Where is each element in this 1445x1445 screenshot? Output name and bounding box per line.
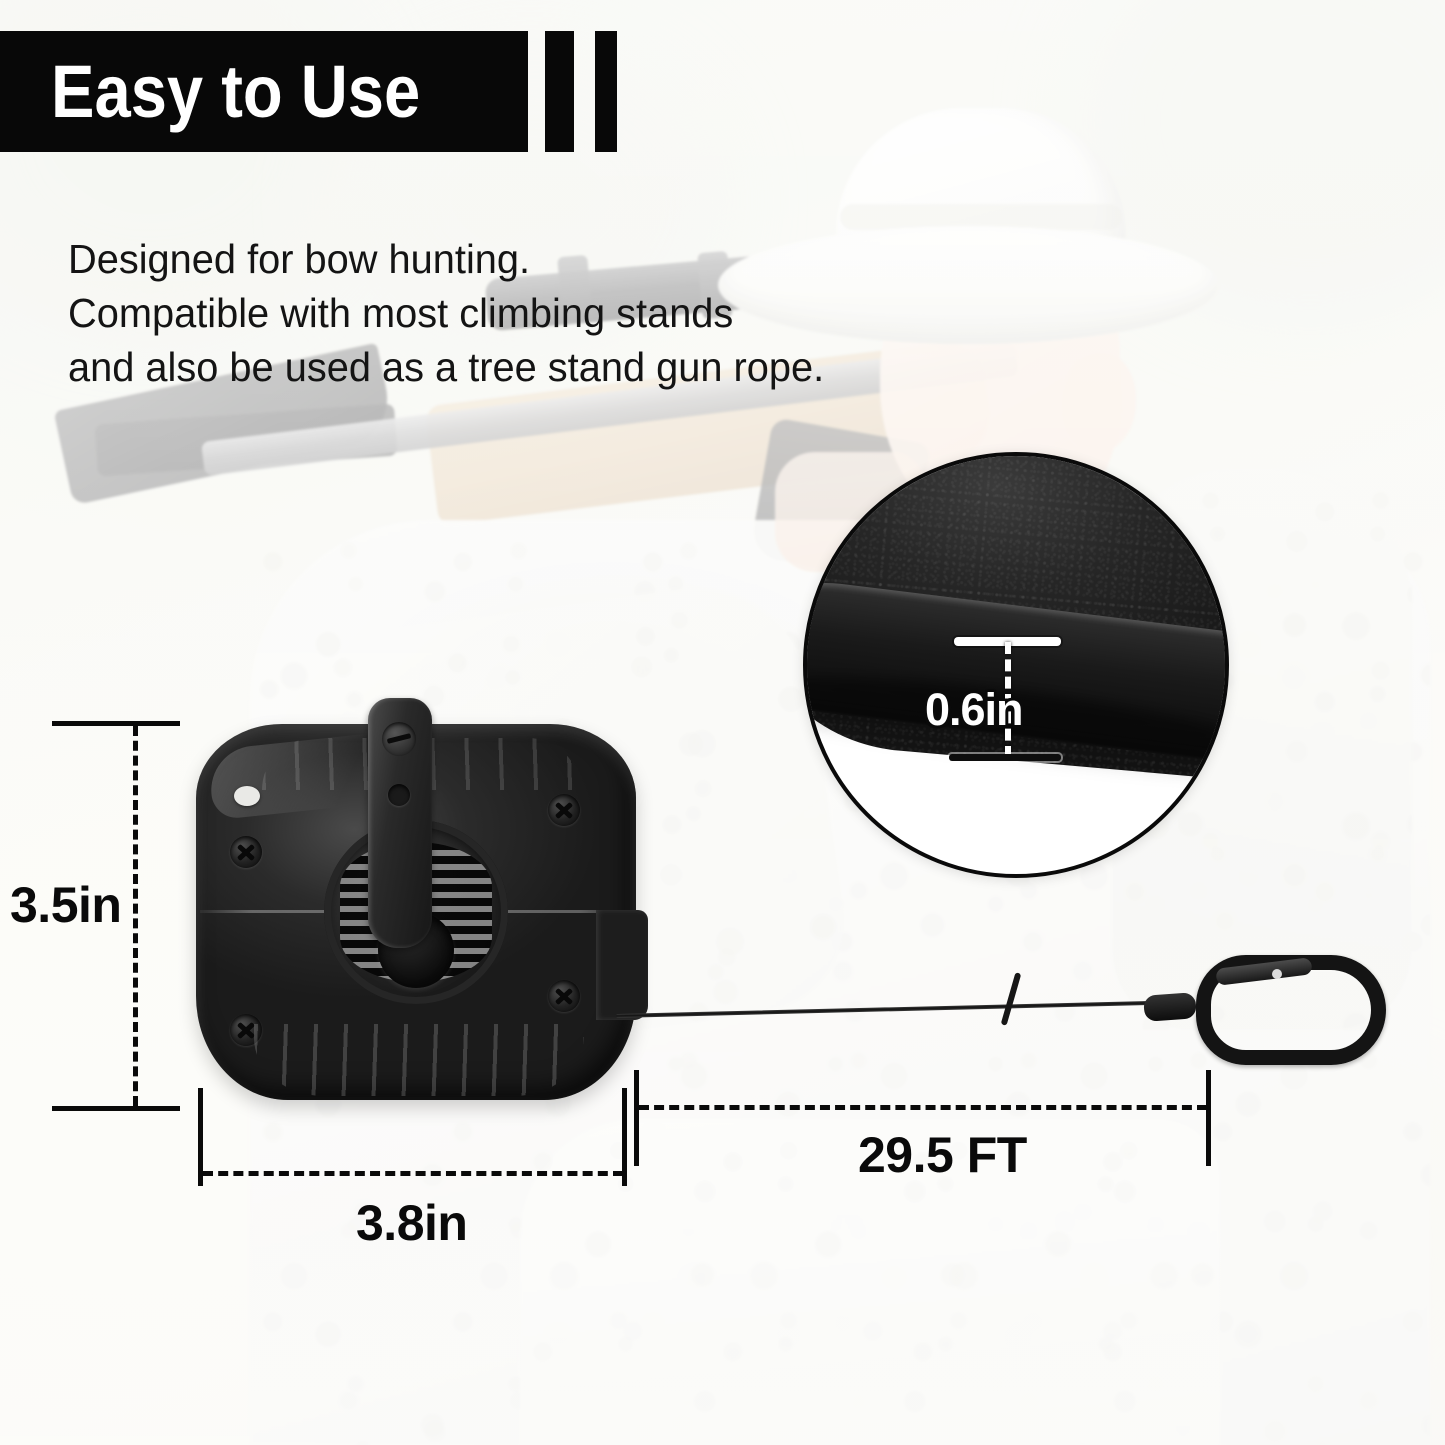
retractor-side-notch (596, 910, 648, 1020)
hunter-figure (0, 0, 1445, 1445)
housing-screw (548, 794, 580, 826)
header-banner: Easy to Use (0, 31, 528, 152)
hunter-ear (1062, 352, 1136, 452)
rope-length-cap-right (1206, 1070, 1211, 1166)
description-line-2: Compatible with most climbing stands (68, 286, 941, 340)
retractor-housing (196, 724, 636, 1100)
width-dimension-label: 3.8in (356, 1194, 467, 1252)
carabiner-rivet (1272, 969, 1282, 979)
width-dimension-line (203, 1171, 623, 1176)
clip-screw (382, 722, 416, 756)
height-dimension-cap-bottom (52, 1106, 180, 1111)
description-text: Designed for bow hunting. Compatible wit… (68, 232, 968, 394)
rope-length-label: 29.5 FT (858, 1126, 1027, 1184)
thickness-dimension-label: 0.6in (925, 684, 1023, 736)
height-dimension-line (133, 726, 138, 1106)
housing-screw (230, 836, 262, 868)
retractor-bottom-ribs (254, 1024, 584, 1096)
page-title: Easy to Use (0, 55, 420, 129)
description-line-1: Designed for bow hunting. (68, 232, 941, 286)
zoom-callout-circle: 0.6in (803, 452, 1229, 878)
rope-length-line (639, 1105, 1207, 1110)
housing-screw (548, 980, 580, 1012)
header-accent-bar-2 (595, 31, 617, 152)
description-line-3: and also be used as a tree stand gun rop… (68, 340, 941, 394)
thickness-dimension-cap-bottom (949, 754, 1061, 761)
rope-knot (1143, 992, 1197, 1022)
height-dimension-cap-top (52, 721, 180, 726)
height-dimension-label: 3.5in (10, 876, 121, 934)
retractor-eyelet (234, 786, 260, 806)
clip-hole (388, 784, 410, 806)
retractor-mounting-clip (368, 698, 432, 948)
rope-length-cap-left (634, 1070, 639, 1166)
carabiner (1196, 955, 1386, 1065)
header-accent-bar-1 (545, 31, 574, 152)
infographic-canvas: Easy to Use Designed for bow hunting. Co… (0, 0, 1445, 1445)
